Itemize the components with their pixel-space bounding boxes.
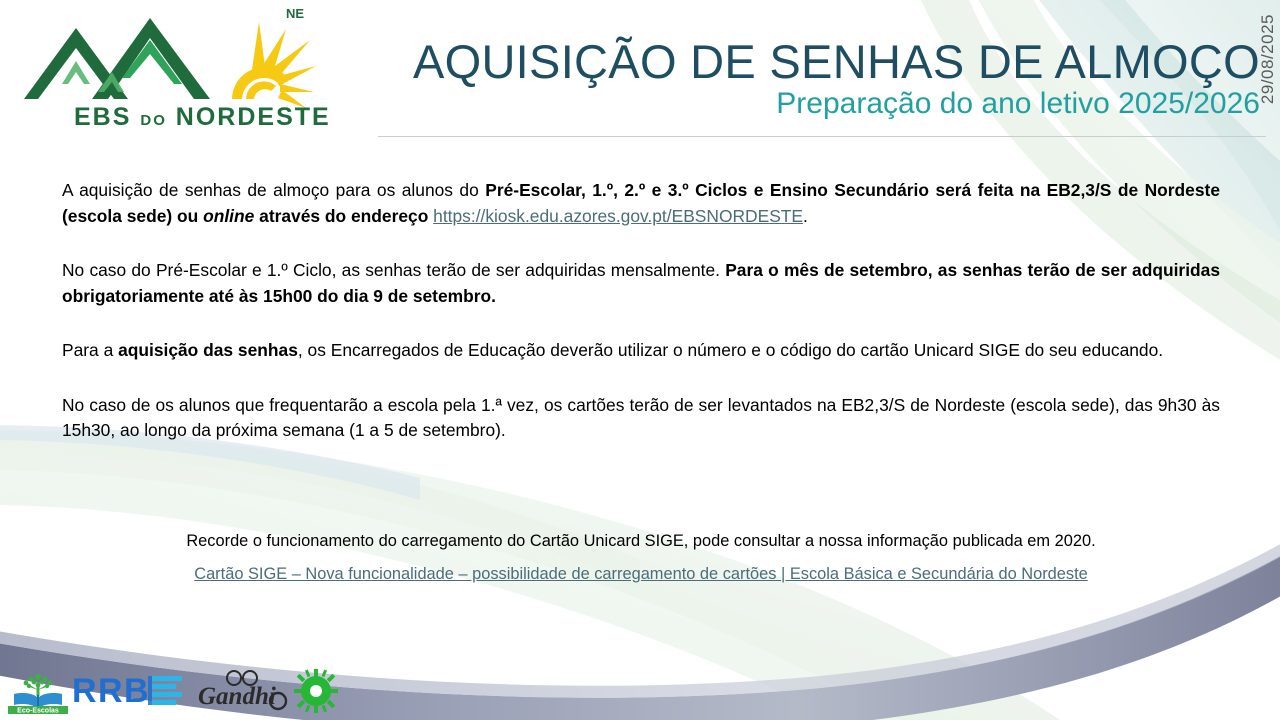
green-gear-icon [294, 669, 338, 713]
school-logo: NE EBS DO NORDESTE [14, 4, 334, 134]
page-title: AQUISIÇÃO DE SENHAS DE ALMOÇO [380, 36, 1260, 88]
svg-text:R: R [98, 672, 123, 710]
svg-text:B: B [124, 672, 149, 710]
p3-text-a: Para a [62, 340, 118, 360]
reminder-note: Recorde o funcionamento do carregamento … [62, 530, 1220, 553]
kiosk-url-link[interactable]: https://kiosk.edu.azores.gov.pt/EBSNORDE… [433, 206, 803, 226]
p2-text-a: No caso do Pré-Escolar e 1.º Ciclo, as s… [62, 260, 725, 280]
p3-bold: aquisição das senhas [118, 340, 298, 360]
cartao-sige-article-link[interactable]: Cartão SIGE – Nova funcionalidade – poss… [62, 563, 1220, 586]
logo-wordmark: EBS DO NORDESTE [74, 103, 331, 131]
paragraph-2: No caso do Pré-Escolar e 1.º Ciclo, as s… [62, 258, 1220, 309]
body-content: A aquisição de senhas de almoço para os … [62, 178, 1220, 444]
paragraph-4: No caso de os alunos que frequentarão a … [62, 393, 1220, 444]
header-divider [378, 136, 1266, 137]
rrbe-icon: R R B [72, 671, 194, 711]
p3-text-c: , os Encarregados de Educação deverão ut… [298, 340, 1163, 360]
svg-text:R: R [72, 672, 97, 710]
gandhi-label: Gandhi [198, 683, 276, 710]
paragraph-3: Para a aquisição das senhas, os Encarreg… [62, 338, 1220, 364]
p1-period: . [803, 206, 808, 226]
paragraph-1: A aquisição de senhas de almoço para os … [62, 178, 1220, 229]
footer-logos: Eco-Escolas R R B [8, 666, 338, 716]
ebs-nordeste-logo-icon: NE EBS DO NORDESTE [14, 4, 334, 134]
eco-escolas-icon: Eco-Escolas [8, 668, 68, 714]
gandhi-icon: Gandhi [198, 668, 290, 714]
page-subtitle: Preparação do ano letivo 2025/2026 [380, 87, 1260, 121]
date-label: 29/08/2025 [1258, 14, 1278, 104]
p1-bold-2: através do endereço [254, 206, 433, 226]
svg-text:NE: NE [286, 6, 304, 21]
eco-escolas-label: Eco-Escolas [17, 708, 59, 715]
header-title-block: AQUISIÇÃO DE SENHAS DE ALMOÇO Preparação… [380, 36, 1260, 121]
slide: NE EBS DO NORDESTE AQUISIÇÃO DE SENHAS D… [0, 0, 1280, 720]
p1-italic-online: online [203, 206, 254, 226]
p1-text-a: A aquisição de senhas de almoço para os … [62, 180, 485, 200]
